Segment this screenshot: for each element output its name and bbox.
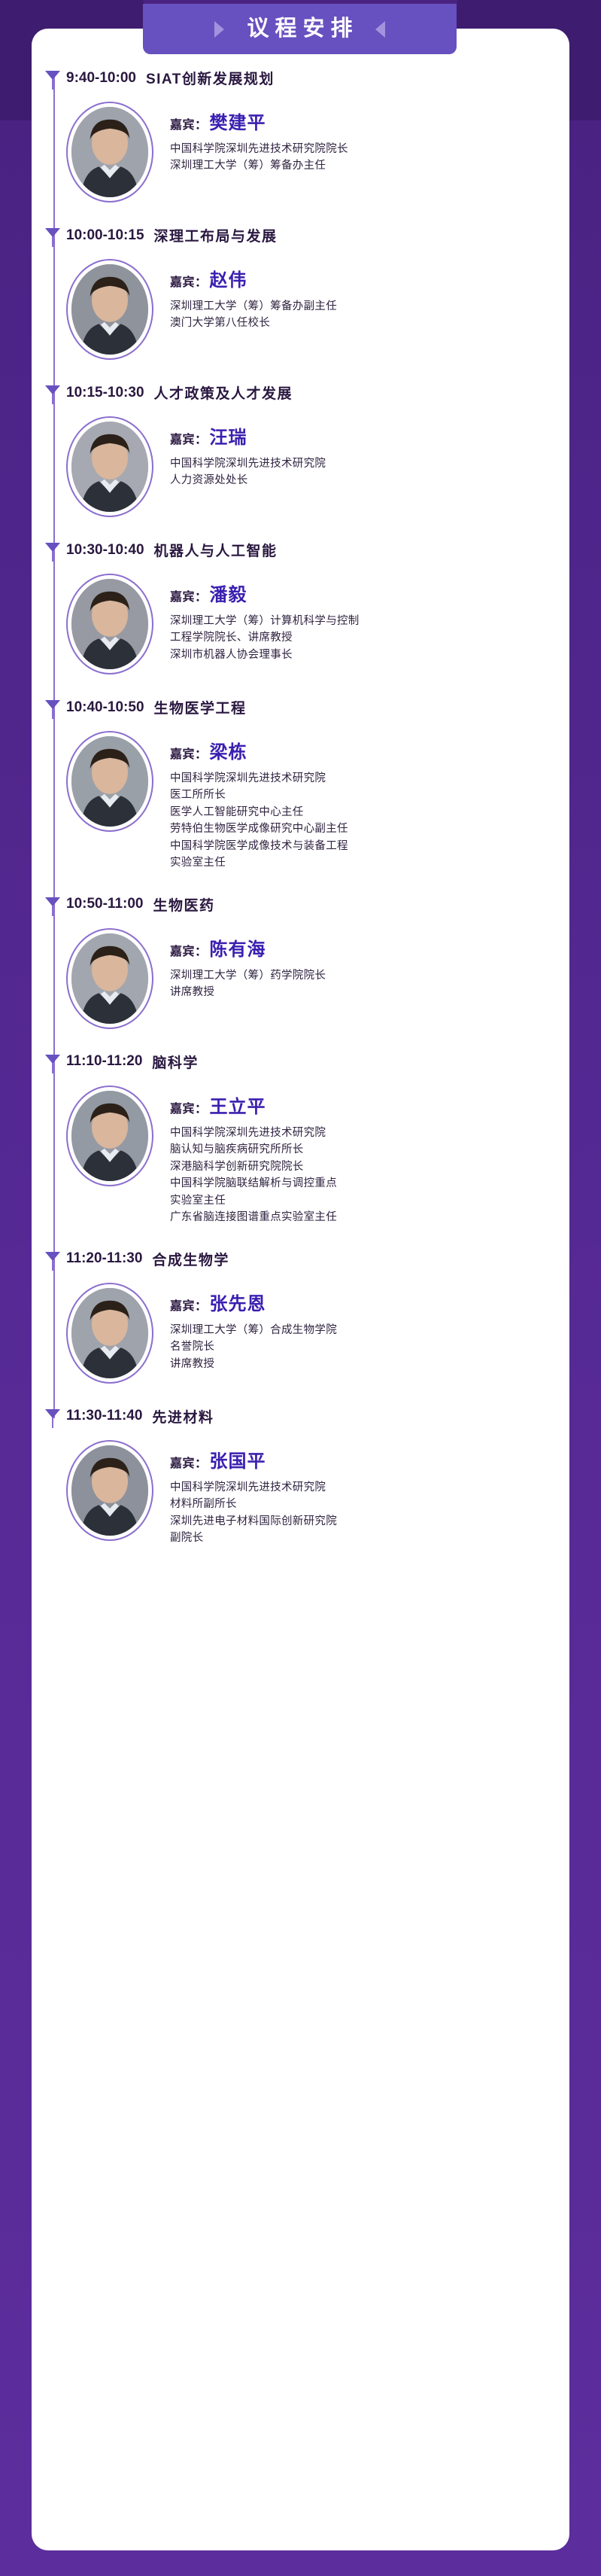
speaker-affiliation-line: 副院长 — [170, 1530, 337, 1546]
speaker-block: 嘉宾： 汪瑞 中国科学院深圳先进技术研究院人力资源处处长 — [66, 416, 569, 540]
guest-label: 嘉宾： — [170, 1453, 208, 1471]
speaker-affiliation-line: 深圳市机器人协会理事长 — [170, 647, 360, 663]
speaker-name-row: 嘉宾： 王立平 — [170, 1092, 337, 1118]
speaker-name: 王立平 — [210, 1092, 266, 1118]
speaker-name: 张国平 — [210, 1446, 266, 1472]
speaker-info: 嘉宾： 王立平 中国科学院深圳先进技术研究院脑认知与脑疾病研究所所长深港脑科学创… — [170, 1086, 337, 1226]
session-header: 11:10-11:20脑科学 — [66, 1052, 569, 1072]
speaker-info: 嘉宾： 汪瑞 中国科学院深圳先进技术研究院人力资源处处长 — [170, 416, 326, 489]
speaker-name-row: 嘉宾： 陈有海 — [170, 934, 326, 961]
timeline-marker-icon — [44, 897, 61, 910]
speaker-affiliation-line: 深圳理工大学（筹）合成生物学院 — [170, 1322, 337, 1338]
speaker-info: 嘉宾： 陈有海 深圳理工大学（筹）药学院院长讲席教授 — [170, 928, 326, 1001]
speaker-affiliation-line: 材料所副所长 — [170, 1496, 337, 1512]
guest-label: 嘉宾： — [170, 114, 208, 132]
timeline-marker-icon — [44, 227, 61, 241]
timeline-marker-icon — [44, 542, 61, 556]
speaker-name-row: 嘉宾： 汪瑞 — [170, 422, 326, 449]
agenda-session: 9:40-10:00SIAT创新发展规划 嘉宾： 樊建平 中国科学院深圳先进技术… — [32, 68, 569, 225]
speaker-affiliation-line: 深圳理工大学（筹）药学院院长 — [170, 967, 326, 984]
speaker-info: 嘉宾： 梁栋 中国科学院深圳先进技术研究院医工所所长医学人工智能研究中心主任劳特… — [170, 731, 348, 872]
session-header: 11:30-11:40先进材料 — [66, 1406, 569, 1427]
speaker-photo — [71, 933, 148, 1024]
page-title: 议程安排 — [241, 18, 358, 40]
guest-label: 嘉宾： — [170, 744, 208, 762]
speaker-info: 嘉宾： 潘毅 深圳理工大学（筹）计算机科学与控制工程学院院长、讲席教授深圳市机器… — [170, 574, 360, 663]
speaker-name-row: 嘉宾： 张国平 — [170, 1446, 337, 1472]
speaker-avatar — [66, 259, 153, 360]
triangle-left-icon — [375, 21, 385, 38]
speaker-affiliation-line: 工程学院院长、讲席教授 — [170, 629, 360, 646]
speaker-info: 嘉宾： 张先恩 深圳理工大学（筹）合成生物学院名誉院长讲席教授 — [170, 1283, 337, 1372]
session-topic: 生物医药 — [153, 894, 214, 915]
speaker-name-row: 嘉宾： 樊建平 — [170, 108, 348, 134]
speaker-block: 嘉宾： 张国平 中国科学院深圳先进技术研究院材料所副所长深圳先进电子材料国际创新… — [66, 1440, 569, 1570]
session-topic: 生物医学工程 — [154, 697, 247, 717]
timeline-rail — [53, 75, 55, 237]
session-topic: SIAT创新发展规划 — [146, 68, 275, 88]
session-time: 10:40-10:50 — [66, 699, 144, 716]
session-topic: 深理工布局与发展 — [154, 225, 278, 245]
session-time: 9:40-10:00 — [66, 70, 136, 87]
timeline-marker-icon — [44, 1408, 61, 1422]
session-header: 9:40-10:00SIAT创新发展规划 — [66, 68, 569, 88]
speaker-affiliation-line: 名誉院长 — [170, 1338, 337, 1355]
session-header: 10:40-10:50生物医学工程 — [66, 697, 569, 717]
speaker-affiliation-line: 中国科学院医学成像技术与装备工程 — [170, 838, 348, 854]
speaker-affiliation-line: 劳特伯生物医学成像研究中心副主任 — [170, 821, 348, 837]
session-time: 11:20-11:30 — [66, 1250, 142, 1267]
session-time: 10:30-10:40 — [66, 542, 144, 559]
speaker-photo — [71, 1288, 148, 1378]
speaker-affiliation-line: 中国科学院深圳先进技术研究院院长 — [170, 141, 348, 157]
speaker-photo — [71, 1445, 148, 1536]
speaker-block: 嘉宾： 赵伟 深圳理工大学（筹）筹备办副主任澳门大学第八任校长 — [66, 259, 569, 382]
speaker-affiliation-line: 中国科学院深圳先进技术研究院 — [170, 1125, 337, 1141]
session-topic: 合成生物学 — [152, 1249, 229, 1269]
speaker-photo — [71, 1091, 148, 1181]
agenda-card: 9:40-10:00SIAT创新发展规划 嘉宾： 樊建平 中国科学院深圳先进技术… — [32, 29, 569, 2550]
session-topic: 脑科学 — [152, 1052, 199, 1072]
speaker-avatar — [66, 416, 153, 517]
timeline-marker-icon — [44, 1251, 61, 1265]
agenda-session: 10:15-10:30人才政策及人才发展 嘉宾： 汪瑞 中国科学院深圳先进技术研… — [32, 382, 569, 540]
timeline-marker-icon — [44, 1054, 61, 1067]
speaker-photo — [71, 264, 148, 355]
speaker-info: 嘉宾： 樊建平 中国科学院深圳先进技术研究院院长深圳理工大学（筹）筹备办主任 — [170, 102, 348, 175]
agenda-banner: 议程安排 — [143, 4, 457, 54]
speaker-avatar — [66, 731, 153, 832]
guest-label: 嘉宾： — [170, 941, 208, 959]
speaker-avatar — [66, 1283, 153, 1384]
speaker-name-row: 嘉宾： 潘毅 — [170, 580, 360, 606]
speaker-block: 嘉宾： 张先恩 深圳理工大学（筹）合成生物学院名誉院长讲席教授 — [66, 1283, 569, 1406]
speaker-name-row: 嘉宾： 赵伟 — [170, 265, 337, 291]
session-header: 10:15-10:30人才政策及人才发展 — [66, 382, 569, 403]
timeline-rail — [53, 1059, 55, 1261]
session-header: 10:50-11:00生物医药 — [66, 894, 569, 915]
speaker-affiliation-line: 深圳理工大学（筹）筹备办副主任 — [170, 298, 337, 315]
speaker-affiliation-line: 医工所所长 — [170, 787, 348, 803]
speaker-avatar — [66, 102, 153, 202]
session-topic: 人才政策及人才发展 — [154, 382, 293, 403]
timeline-rail — [53, 233, 55, 394]
timeline-marker-icon — [44, 385, 61, 398]
speaker-affiliation-line: 中国科学院脑联结解析与调控重点 — [170, 1175, 337, 1192]
session-time: 10:50-11:00 — [66, 896, 143, 912]
guest-label: 嘉宾： — [170, 272, 208, 290]
agenda-session: 10:50-11:00生物医药 嘉宾： 陈有海 深圳理工大学（筹）药学院院长讲席… — [32, 894, 569, 1052]
session-time: 11:10-11:20 — [66, 1053, 142, 1070]
speaker-affiliation-line: 深圳理工大学（筹）计算机科学与控制 — [170, 613, 360, 629]
speaker-name: 赵伟 — [210, 265, 247, 291]
speaker-affiliation-line: 实验室主任 — [170, 1192, 337, 1209]
speaker-name: 汪瑞 — [210, 422, 247, 449]
speaker-affiliation-line: 广东省脑连接图谱重点实验室主任 — [170, 1209, 337, 1226]
speaker-block: 嘉宾： 王立平 中国科学院深圳先进技术研究院脑认知与脑疾病研究所所长深港脑科学创… — [66, 1086, 569, 1249]
speaker-name: 梁栋 — [210, 737, 247, 763]
guest-label: 嘉宾： — [170, 1296, 208, 1314]
speaker-affiliation-line: 人力资源处处长 — [170, 472, 326, 489]
timeline-rail — [53, 1256, 55, 1418]
speaker-info: 嘉宾： 赵伟 深圳理工大学（筹）筹备办副主任澳门大学第八任校长 — [170, 259, 337, 332]
speaker-name: 张先恩 — [210, 1289, 266, 1315]
speaker-affiliation-line: 脑认知与脑疾病研究所所长 — [170, 1141, 337, 1158]
speaker-affiliation-line: 中国科学院深圳先进技术研究院 — [170, 770, 348, 787]
speaker-avatar — [66, 1440, 153, 1541]
speaker-name: 陈有海 — [210, 934, 266, 961]
agenda-session: 11:30-11:40先进材料 嘉宾： 张国平 中国科学院深圳先进技术研究院材料… — [32, 1406, 569, 1570]
speaker-block: 嘉宾： 陈有海 深圳理工大学（筹）药学院院长讲席教授 — [66, 928, 569, 1052]
speaker-name: 潘毅 — [210, 580, 247, 606]
timeline-marker-icon — [44, 70, 61, 84]
speaker-affiliation-line: 深港脑科学创新研究院院长 — [170, 1159, 337, 1175]
guest-label: 嘉宾： — [170, 429, 208, 447]
session-topic: 先进材料 — [152, 1406, 214, 1427]
agenda-session: 10:40-10:50生物医学工程 嘉宾： 梁栋 中国科学院深圳先进技术研究院医… — [32, 697, 569, 894]
speaker-avatar — [66, 928, 153, 1029]
speaker-name-row: 嘉宾： 张先恩 — [170, 1289, 337, 1315]
speaker-affiliation-line: 深圳理工大学（筹）筹备办主任 — [170, 157, 348, 174]
session-time: 11:30-11:40 — [66, 1408, 142, 1424]
session-topic: 机器人与人工智能 — [154, 540, 278, 560]
speaker-affiliation-line: 讲席教授 — [170, 1356, 337, 1372]
triangle-right-icon — [214, 21, 224, 38]
speaker-affiliation-line: 深圳先进电子材料国际创新研究院 — [170, 1513, 337, 1530]
speaker-block: 嘉宾： 潘毅 深圳理工大学（筹）计算机科学与控制工程学院院长、讲席教授深圳市机器… — [66, 574, 569, 697]
timeline-rail — [53, 547, 55, 709]
speaker-avatar — [66, 574, 153, 674]
speaker-info: 嘉宾： 张国平 中国科学院深圳先进技术研究院材料所副所长深圳先进电子材料国际创新… — [170, 1440, 337, 1547]
agenda-session: 10:30-10:40机器人与人工智能 嘉宾： 潘毅 深圳理工大学（筹）计算机科… — [32, 540, 569, 697]
speaker-name: 樊建平 — [210, 108, 266, 134]
session-time: 10:00-10:15 — [66, 227, 144, 244]
timeline-marker-icon — [44, 699, 61, 713]
session-time: 10:15-10:30 — [66, 385, 144, 401]
session-header: 10:00-10:15深理工布局与发展 — [66, 225, 569, 245]
speaker-photo — [71, 736, 148, 827]
agenda-session: 11:10-11:20脑科学 嘉宾： 王立平 中国科学院深圳先进技术研究院脑认知… — [32, 1052, 569, 1249]
speaker-photo — [71, 422, 148, 512]
session-header: 10:30-10:40机器人与人工智能 — [66, 540, 569, 560]
timeline-rail — [53, 705, 55, 906]
session-header: 11:20-11:30合成生物学 — [66, 1249, 569, 1269]
timeline-rail — [53, 902, 55, 1064]
timeline-rail — [53, 390, 55, 552]
guest-label: 嘉宾： — [170, 1098, 208, 1116]
speaker-affiliation-line: 医学人工智能研究中心主任 — [170, 804, 348, 821]
speaker-photo — [71, 107, 148, 197]
speaker-name-row: 嘉宾： 梁栋 — [170, 737, 348, 763]
guest-label: 嘉宾： — [170, 586, 208, 604]
speaker-affiliation-line: 实验室主任 — [170, 854, 348, 871]
speaker-block: 嘉宾： 樊建平 中国科学院深圳先进技术研究院院长深圳理工大学（筹）筹备办主任 — [66, 102, 569, 225]
speaker-affiliation-line: 澳门大学第八任校长 — [170, 315, 337, 331]
speaker-photo — [71, 579, 148, 669]
agenda-session: 11:20-11:30合成生物学 嘉宾： 张先恩 深圳理工大学（筹）合成生物学院… — [32, 1249, 569, 1406]
speaker-avatar — [66, 1086, 153, 1186]
speaker-affiliation-line: 中国科学院深圳先进技术研究院 — [170, 455, 326, 472]
speaker-block: 嘉宾： 梁栋 中国科学院深圳先进技术研究院医工所所长医学人工智能研究中心主任劳特… — [66, 731, 569, 894]
agenda-session: 10:00-10:15深理工布局与发展 嘉宾： 赵伟 深圳理工大学（筹）筹备办副… — [32, 225, 569, 382]
speaker-affiliation-line: 中国科学院深圳先进技术研究院 — [170, 1479, 337, 1496]
speaker-affiliation-line: 讲席教授 — [170, 984, 326, 1000]
agenda-timeline: 9:40-10:00SIAT创新发展规划 嘉宾： 樊建平 中国科学院深圳先进技术… — [32, 68, 569, 1570]
